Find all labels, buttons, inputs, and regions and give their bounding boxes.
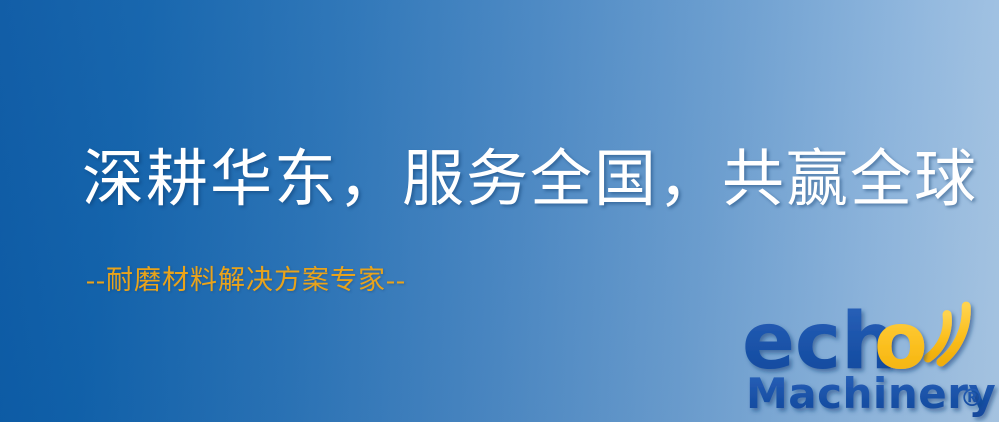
- echo-machinery-logo[interactable]: ech o Machinery ®: [742, 296, 999, 422]
- echo-wave-icon: [925, 306, 970, 362]
- banner-headline: 深耕华东，服务全国，共赢全球: [82, 148, 978, 213]
- logo-registered-mark: ®: [960, 384, 984, 412]
- banner-subtitle: --耐磨材料解决方案专家--: [86, 266, 406, 296]
- logo-tagline: Machinery: [746, 369, 996, 418]
- promo-banner: 深耕华东，服务全国，共赢全球 --耐磨材料解决方案专家--: [0, 0, 999, 422]
